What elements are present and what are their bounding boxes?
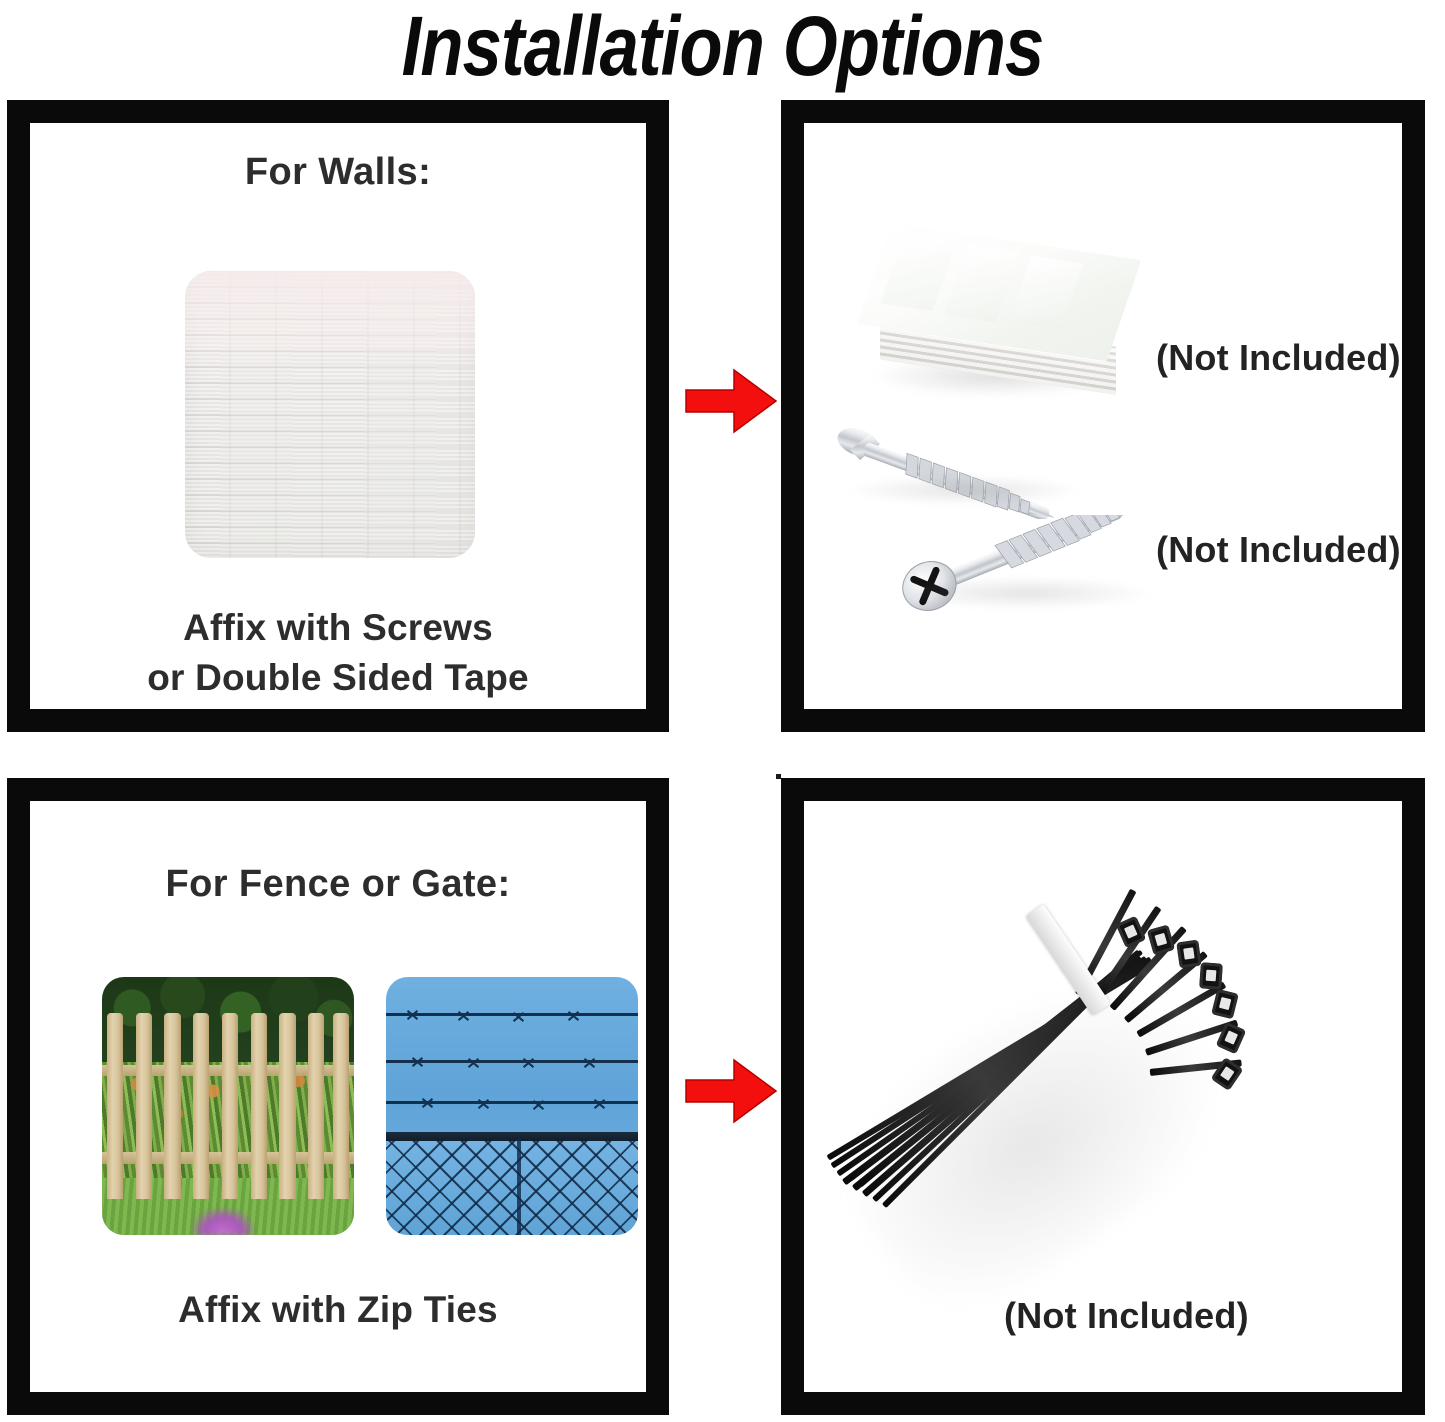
brick-top-tint	[185, 271, 475, 374]
ziptie-not-included-label: (Not Included)	[1004, 1295, 1249, 1337]
wire-barb	[411, 1055, 424, 1068]
caption-walls-line1: Affix with Screws	[30, 603, 646, 653]
wire-barb	[477, 1097, 490, 1110]
caption-fence-line1: Affix with Zip Ties	[30, 1285, 646, 1335]
fence-picket	[222, 1013, 238, 1199]
caption-walls: Affix with Screws or Double Sided Tape	[30, 603, 646, 703]
wire-barb	[457, 1009, 470, 1022]
fence-picket	[136, 1013, 152, 1199]
chain-link-mesh	[386, 1141, 638, 1235]
panel-for-fence-content: For Fence or Gate:	[30, 801, 646, 1392]
wire-barb	[406, 1008, 419, 1021]
ziptie-head	[1211, 989, 1239, 1020]
fence-picket	[279, 1013, 295, 1199]
chain-link-barbed-wire-fence-photo	[386, 977, 638, 1235]
fence-picket	[107, 1013, 123, 1199]
wooden-picket-fence-photo	[102, 977, 354, 1235]
wire-barb	[522, 1056, 535, 1069]
screw-shadow	[850, 475, 1080, 505]
panel-for-walls: For Walls: Affix with Screws or Double S…	[7, 100, 669, 732]
fence-picket	[333, 1013, 349, 1199]
wire-barb	[467, 1056, 480, 1069]
red-right-arrow-top	[684, 366, 780, 436]
panel-fence-hardware: (Not Included)	[781, 778, 1425, 1415]
fence-picket	[308, 1013, 324, 1199]
ziptie-head	[1176, 940, 1201, 969]
panel-fence-hardware-content: (Not Included)	[804, 801, 1402, 1392]
screws-not-included-label: (Not Included)	[1156, 529, 1401, 571]
screw-shadow	[900, 577, 1150, 609]
panel-heading-for-walls: For Walls:	[30, 151, 646, 194]
panel-wall-hardware: (Not Included)	[781, 100, 1425, 732]
caption-fence: Affix with Zip Ties	[30, 1285, 646, 1335]
wire-barb	[512, 1010, 525, 1023]
white-brick-wall-swatch	[185, 271, 475, 558]
tape-square	[944, 244, 1020, 322]
wire-barb	[593, 1097, 606, 1110]
wire-barb	[421, 1096, 434, 1109]
black-zip-tie-bundle	[820, 879, 1270, 1274]
fence-picket	[193, 1013, 209, 1199]
wire-barb	[532, 1098, 545, 1111]
tape-square	[881, 237, 956, 311]
panel-for-walls-content: For Walls: Affix with Screws or Double S…	[30, 123, 646, 709]
fence-pickets	[102, 977, 354, 1235]
ziptie-head	[1199, 962, 1223, 989]
panel-wall-hardware-content: (Not Included)	[804, 123, 1402, 709]
tape-not-included-label: (Not Included)	[1156, 337, 1401, 379]
fence-picket	[164, 1013, 180, 1199]
caption-walls-line2: or Double Sided Tape	[30, 653, 646, 703]
double-sided-tape-stack	[862, 233, 1142, 418]
red-right-arrow-bottom	[684, 1056, 780, 1126]
fence-picket	[251, 1013, 267, 1199]
wire-barb	[583, 1056, 596, 1069]
stray-pixel-artifact	[776, 774, 781, 779]
panel-for-fence-or-gate: For Fence or Gate:	[7, 778, 669, 1415]
panel-heading-for-fence: For Fence or Gate:	[30, 863, 646, 906]
wire-barb	[567, 1009, 580, 1022]
silver-screw-upper	[836, 423, 1086, 519]
silver-screw-lower	[882, 515, 1172, 625]
fence-post	[517, 1137, 521, 1235]
tape-square	[1009, 256, 1084, 330]
page-title: Installation Options	[116, 0, 1330, 96]
